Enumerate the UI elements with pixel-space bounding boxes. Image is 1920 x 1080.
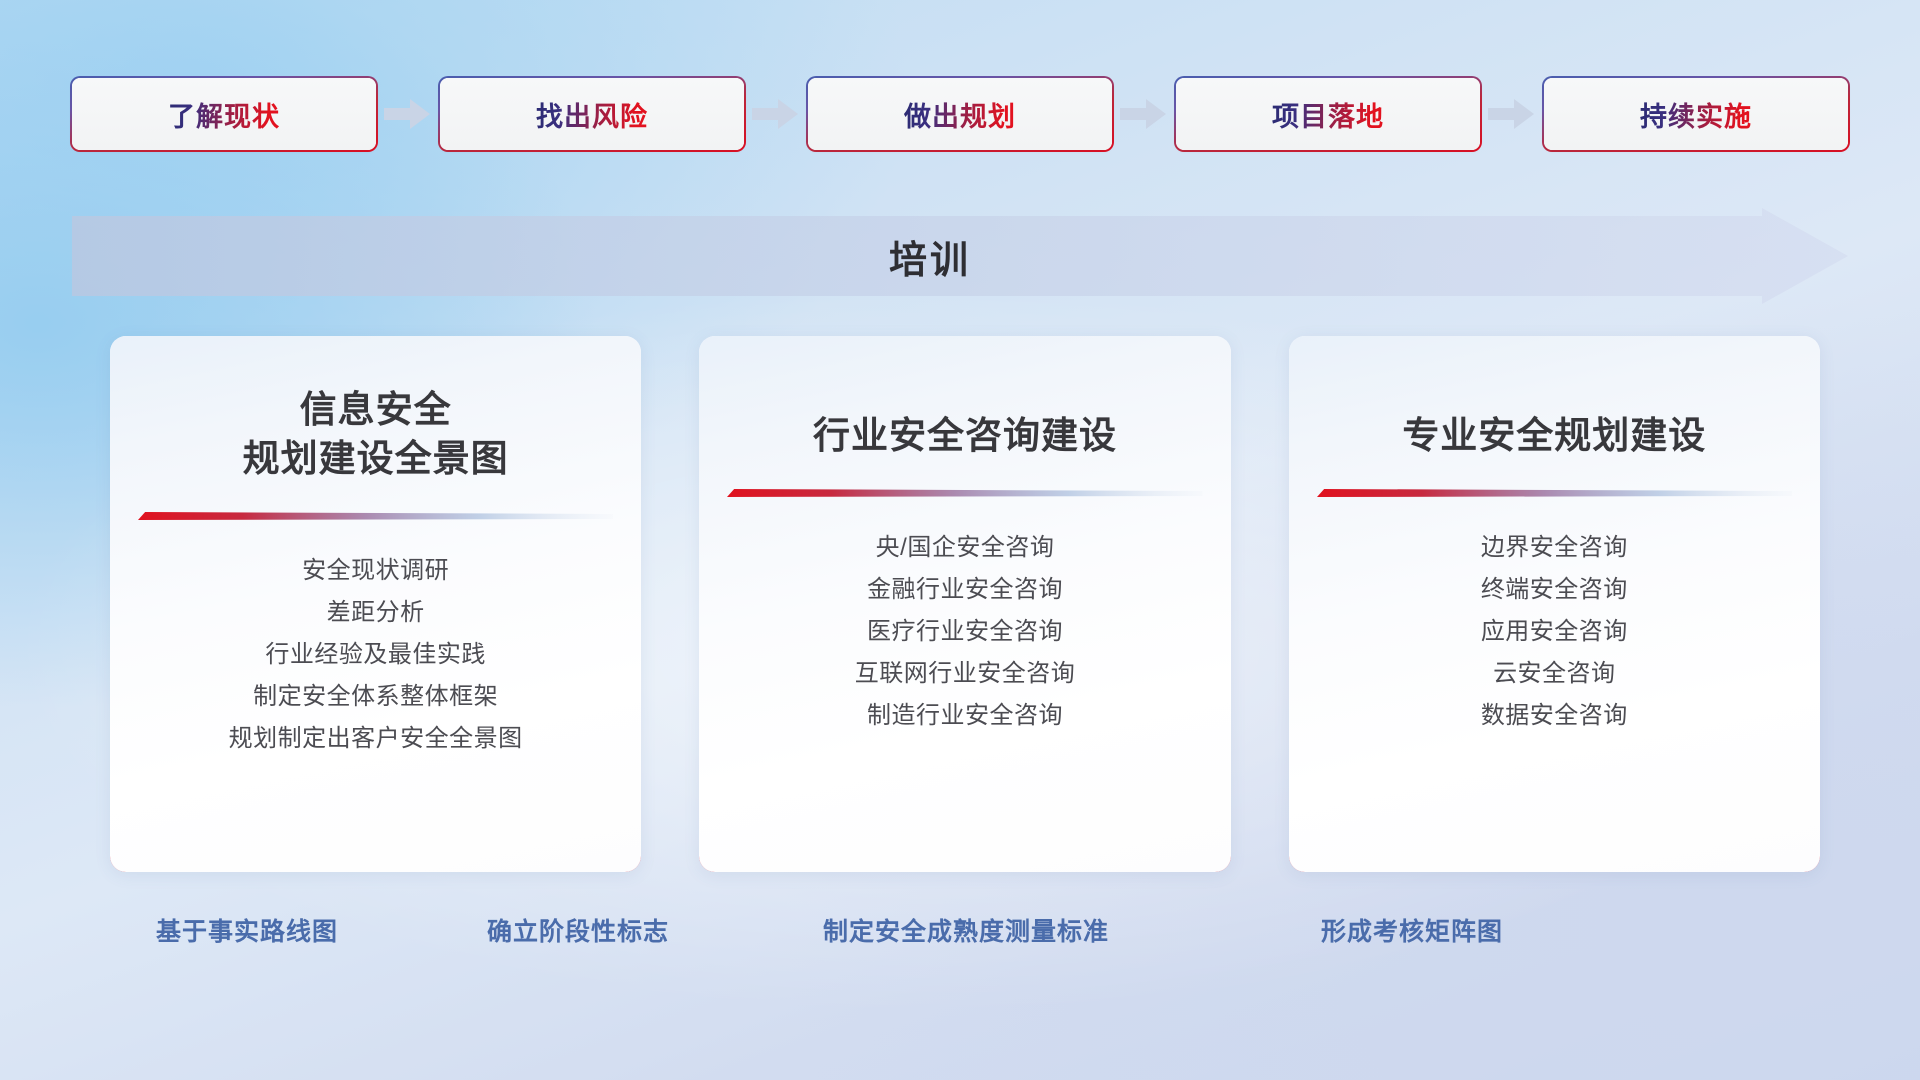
list-item: 医疗行业安全咨询 [727, 611, 1202, 653]
caption-3: 形成考核矩阵图 [1321, 912, 1503, 948]
training-banner-label: 培训 [72, 208, 1848, 304]
arrow-right-icon [1480, 95, 1544, 133]
list-item: 互联网行业安全咨询 [727, 653, 1202, 695]
card-info-security-panorama[interactable]: 信息安全 规划建设全景图 [110, 336, 641, 872]
list-item: 安全现状调研 [138, 550, 613, 592]
arrow-right-icon [744, 95, 808, 133]
arrow-right-icon [376, 95, 440, 133]
card-divider-icon [727, 487, 1202, 501]
card-professional-security-planning[interactable]: 专业安全规划建设 [1289, 336, 1820, 872]
list-item: 央/国企安全咨询 [727, 527, 1202, 569]
card-industry-security-consulting[interactable]: 行业安全咨询建设 [699, 336, 1230, 872]
process-step-4[interactable]: 持续实施 [1544, 78, 1848, 150]
card-item-list: 央/国企安全咨询 金融行业安全咨询 医疗行业安全咨询 互联网行业安全咨询 制造行… [727, 527, 1202, 737]
list-item: 制定安全体系整体框架 [138, 676, 613, 718]
process-step-label: 找出风险 [536, 95, 648, 134]
process-step-1[interactable]: 找出风险 [440, 78, 744, 150]
card-divider-icon [138, 510, 613, 524]
list-item: 边界安全咨询 [1317, 527, 1792, 569]
process-step-label: 项目落地 [1272, 95, 1384, 134]
list-item: 制造行业安全咨询 [727, 695, 1202, 737]
card-group: 信息安全 规划建设全景图 [110, 336, 1820, 872]
caption-row: 基于事实路线图 确立阶段性标志 制定安全成熟度测量标准 形成考核矩阵图 [0, 912, 1920, 962]
card-divider-icon [1317, 487, 1792, 501]
list-item: 云安全咨询 [1317, 653, 1792, 695]
caption-0: 基于事实路线图 [156, 912, 338, 948]
list-item: 金融行业安全咨询 [727, 569, 1202, 611]
card-title: 信息安全 规划建设全景图 [243, 386, 509, 484]
process-step-label: 做出规划 [904, 95, 1016, 134]
process-step-label: 持续实施 [1640, 95, 1752, 134]
card-item-list: 安全现状调研 差距分析 行业经验及最佳实践 制定安全体系整体框架 规划制定出客户… [138, 550, 613, 760]
arrow-right-icon [1112, 95, 1176, 133]
training-banner: 培训 [72, 208, 1848, 304]
slide-canvas: 了解现状 找出风险 做出规划 项目落地 [0, 0, 1920, 1080]
list-item: 终端安全咨询 [1317, 569, 1792, 611]
process-step-2[interactable]: 做出规划 [808, 78, 1112, 150]
card-item-list: 边界安全咨询 终端安全咨询 应用安全咨询 云安全咨询 数据安全咨询 [1317, 527, 1792, 737]
caption-2: 制定安全成熟度测量标准 [823, 912, 1109, 948]
card-title: 行业安全咨询建设 [813, 412, 1117, 461]
list-item: 应用安全咨询 [1317, 611, 1792, 653]
list-item: 规划制定出客户安全全景图 [138, 718, 613, 760]
caption-1: 确立阶段性标志 [487, 912, 669, 948]
list-item: 行业经验及最佳实践 [138, 634, 613, 676]
card-title: 专业安全规划建设 [1402, 412, 1706, 461]
process-step-3[interactable]: 项目落地 [1176, 78, 1480, 150]
process-step-0[interactable]: 了解现状 [72, 78, 376, 150]
list-item: 差距分析 [138, 592, 613, 634]
list-item: 数据安全咨询 [1317, 695, 1792, 737]
process-step-label: 了解现状 [168, 95, 280, 134]
process-step-row: 了解现状 找出风险 做出规划 项目落地 [72, 78, 1848, 150]
